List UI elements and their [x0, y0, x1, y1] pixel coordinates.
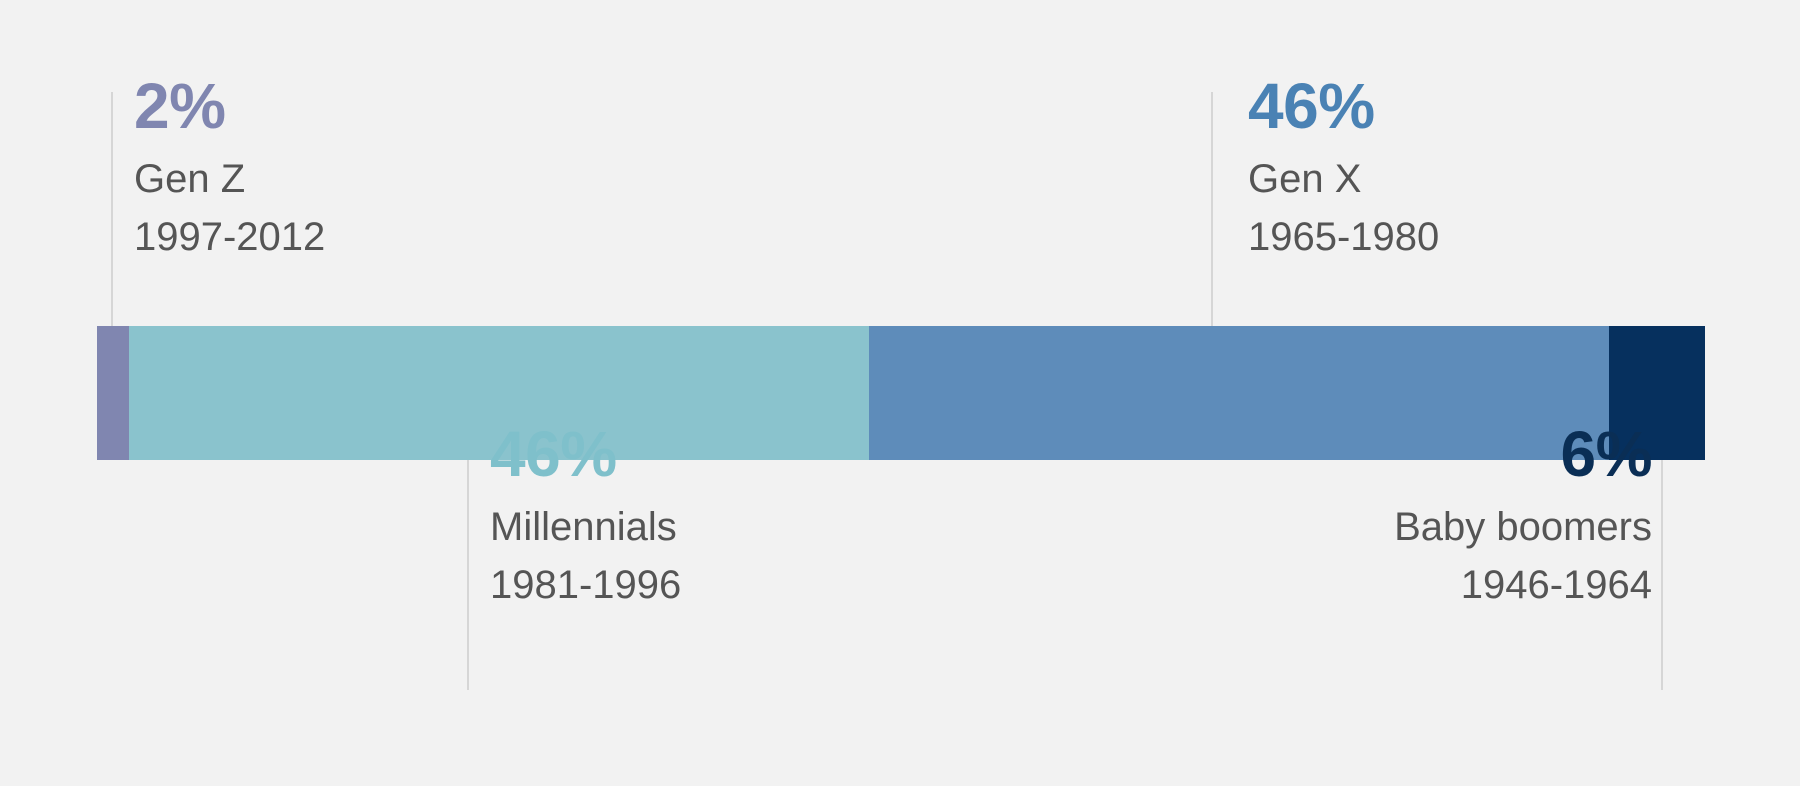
baby-boomers-years: 1946-1964 [1394, 565, 1652, 605]
gen-z-name: Gen Z [134, 159, 325, 199]
gen-x-name: Gen X [1248, 159, 1439, 199]
baby-boomers-percent: 6% [1394, 422, 1652, 487]
gen-x-percent: 46% [1248, 74, 1439, 139]
leader-line-millennials [467, 460, 469, 690]
generation-share-infographic: 2% Gen Z 1997-2012 46% Gen X 1965-1980 4… [0, 0, 1800, 786]
gen-x-years: 1965-1980 [1248, 217, 1439, 257]
gen-z-years: 1997-2012 [134, 217, 325, 257]
millennials-years: 1981-1996 [490, 565, 681, 605]
callout-gen-x: 46% Gen X 1965-1980 [1248, 74, 1439, 257]
baby-boomers-name: Baby boomers [1394, 507, 1652, 547]
leader-line-gen-z [111, 92, 113, 326]
millennials-percent: 46% [490, 422, 681, 487]
callout-gen-z: 2% Gen Z 1997-2012 [134, 74, 325, 257]
callout-baby-boomers: 6% Baby boomers 1946-1964 [1394, 422, 1652, 605]
callout-millennials: 46% Millennials 1981-1996 [490, 422, 681, 605]
gen-z-percent: 2% [134, 74, 325, 139]
leader-line-baby-boomers [1661, 460, 1663, 690]
leader-line-gen-x [1211, 92, 1213, 326]
millennials-name: Millennials [490, 507, 681, 547]
bar-segment-gen-z[interactable] [97, 326, 129, 460]
